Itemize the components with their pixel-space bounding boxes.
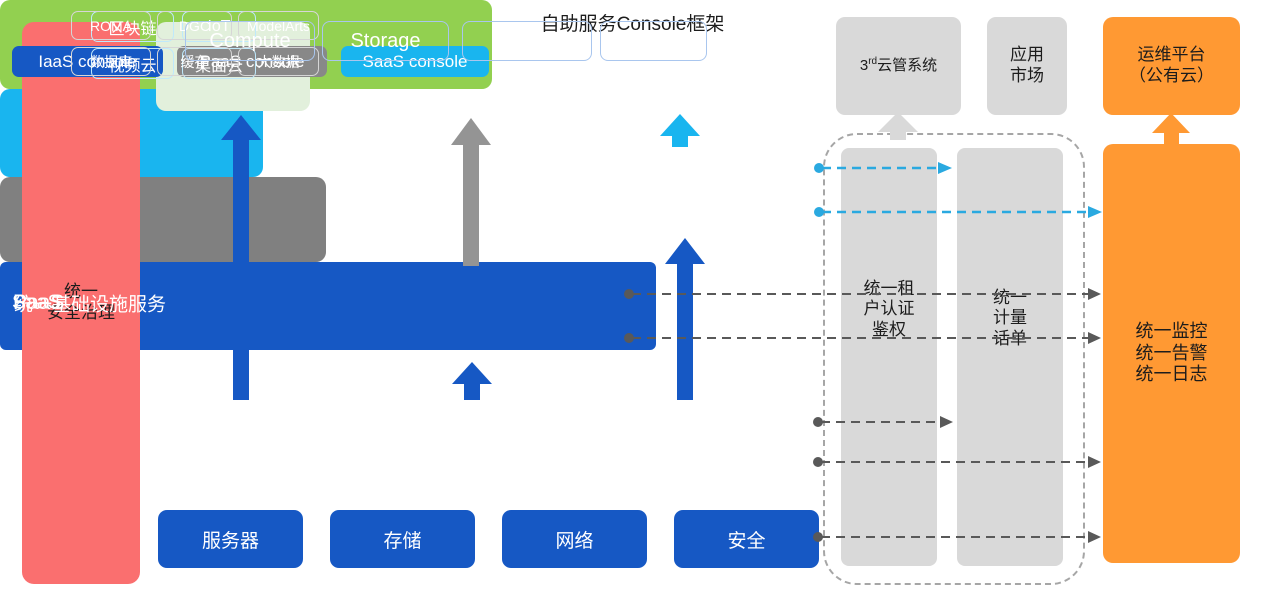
arrow-ops-unified-to-ops-platform [1152,113,1190,144]
resource-box-security-label: 安全 [727,526,765,553]
resource-box-network: 网络 [502,510,647,568]
architecture-diagram-canvas: 统一 安全治理 API网关 自助服务Console框架 IaaS console… [0,0,1265,605]
ops-platform-box: 运维平台 （公有云） [1103,17,1240,115]
resource-box-network-label: 网络 [555,526,593,553]
ops-unified-monitoring-label: 统一监控 统一告警 统一日志 [1136,321,1208,387]
shared-service-tenant-auth-column: 统一租 户认证 鉴权 [841,148,937,566]
infrastructure-service-compute[interactable]: Compute [185,21,315,61]
third-party-cloud-mgmt-suffix: 云管系统 [877,57,937,74]
ops-platform-label: 运维平台 （公有云） [1129,45,1214,86]
resource-box-security: 安全 [674,510,819,568]
infrastructure-service-cce[interactable]: CCE [600,21,707,61]
resource-box-server: 服务器 [158,510,303,568]
shared-service-tenant-auth-label: 统一租 户认证 鉴权 [841,279,937,340]
ops-unified-monitoring-box: 统一监控 统一告警 统一日志 [1103,144,1240,563]
paas-service-database-label: 数据库 [90,52,132,72]
shared-service-metering-label: 统一 计量 话单 [957,288,1063,349]
arrow-saas-to-saas-console [660,114,700,147]
third-party-cloud-mgmt-label: 3rd云管系统 [860,56,937,75]
arrow-infra-to-saas [665,238,705,400]
infrastructure-service-network[interactable]: Network [462,21,592,61]
infrastructure-service-storage[interactable]: Storage [322,21,449,61]
arrow-infra-to-paas [452,362,492,400]
infrastructure-service-cce-label: CCE [632,30,674,53]
resource-box-storage-label: 存储 [383,526,421,553]
infrastructure-service-storage-label: Storage [350,30,420,53]
infrastructure-layer-label: 统一基础设施服务 [14,289,166,316]
third-party-cloud-mgmt-box: 3rd云管系统 [836,17,961,115]
resource-box-storage: 存储 [330,510,475,568]
shared-service-metering-column: 统一 计量 话单 [957,148,1063,566]
app-market-box: 应用 市场 [987,17,1067,115]
paas-service-database[interactable]: 数据库 [71,47,151,76]
infrastructure-service-network-label: Network [490,30,563,53]
arrow-paas-to-console [451,118,491,266]
paas-service-roma-label: ROMA [90,18,132,34]
app-market-label: 应用 市场 [1010,45,1044,86]
paas-service-roma[interactable]: ROMA [71,11,151,40]
infrastructure-service-compute-label: Compute [209,30,290,53]
resource-box-server-label: 服务器 [202,526,259,553]
